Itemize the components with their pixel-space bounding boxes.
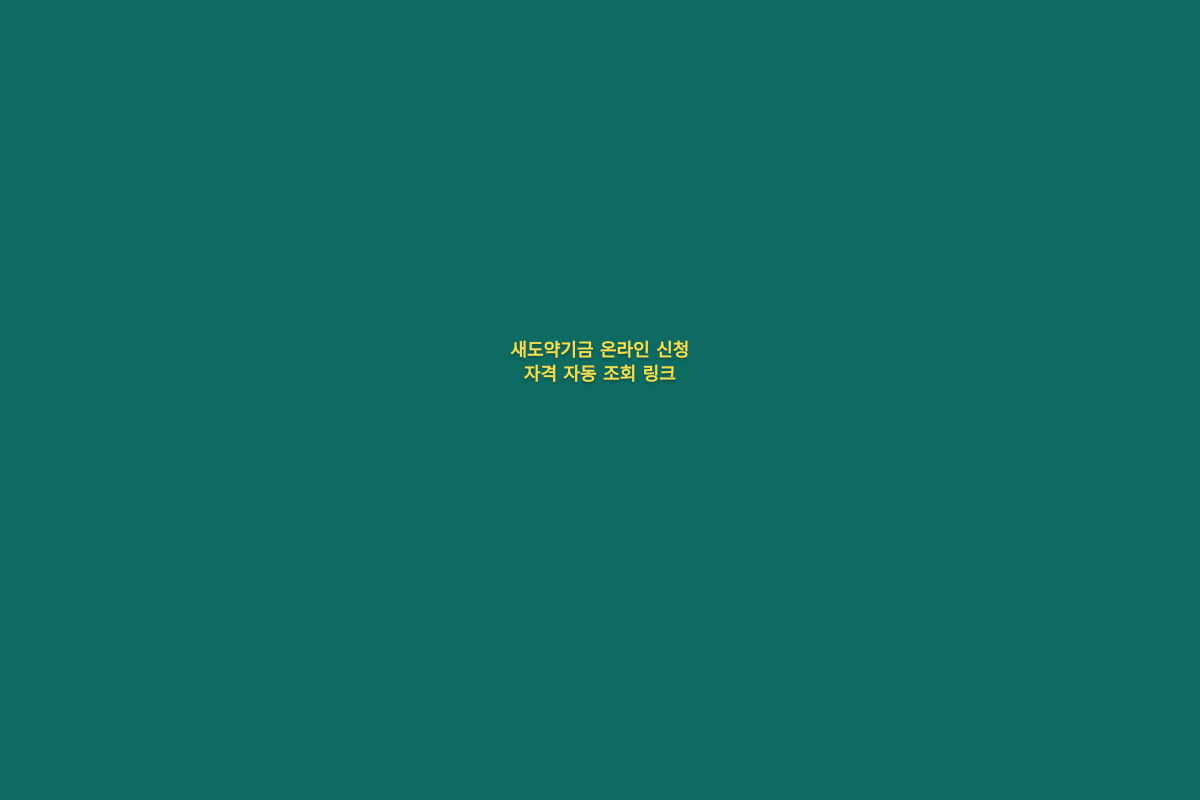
thumbnail-canvas: 새도약기금 온라인 신청 자격 자동 조회 링크 xyxy=(0,0,1200,800)
headline-text-block: 새도약기금 온라인 신청 자격 자동 조회 링크 xyxy=(0,339,1200,387)
headline-line-1: 새도약기금 온라인 신청 xyxy=(0,339,1200,363)
headline-line-2: 자격 자동 조회 링크 xyxy=(0,363,1200,387)
